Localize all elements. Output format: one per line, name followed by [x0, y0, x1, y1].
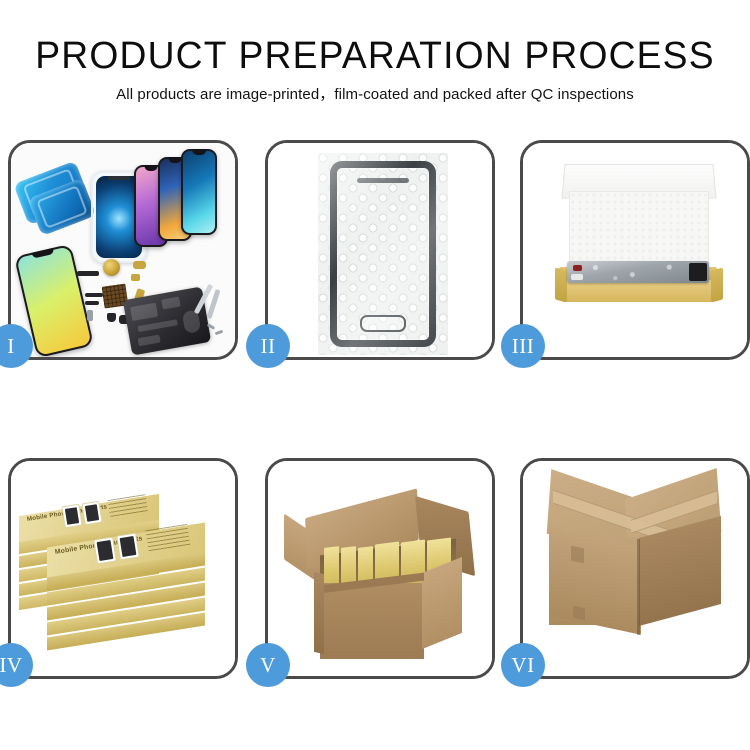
- step-image-6: [523, 461, 747, 676]
- step-card-3[interactable]: III: [520, 140, 750, 360]
- photo-kraft-box-with-foam: [523, 143, 747, 357]
- step-badge-5: V: [246, 643, 290, 687]
- step-card-4[interactable]: Mobile Phone Spare Parts: [8, 458, 238, 679]
- step-card-2[interactable]: II: [265, 140, 495, 360]
- step-image-2: [268, 143, 492, 357]
- photo-product-parts-overview: [11, 143, 235, 357]
- step-card-1[interactable]: I: [8, 140, 238, 360]
- step-badge-2: II: [246, 324, 290, 368]
- photo-bubble-wrapped-screen: [268, 143, 492, 357]
- photo-sealed-shipping-carton: [523, 461, 747, 676]
- step-image-3: [523, 143, 747, 357]
- step-image-5: [268, 461, 492, 676]
- photo-stacked-retail-boxes: Mobile Phone Spare Parts: [11, 461, 235, 676]
- process-steps-grid: I II: [0, 0, 750, 750]
- step-card-6[interactable]: VI: [520, 458, 750, 679]
- step-badge-6: VI: [501, 643, 545, 687]
- step-image-1: [11, 143, 235, 357]
- photo-carton-filled-with-boxes: [268, 461, 492, 676]
- step-card-5[interactable]: V: [265, 458, 495, 679]
- step-badge-3: III: [501, 324, 545, 368]
- step-image-4: Mobile Phone Spare Parts: [11, 461, 235, 676]
